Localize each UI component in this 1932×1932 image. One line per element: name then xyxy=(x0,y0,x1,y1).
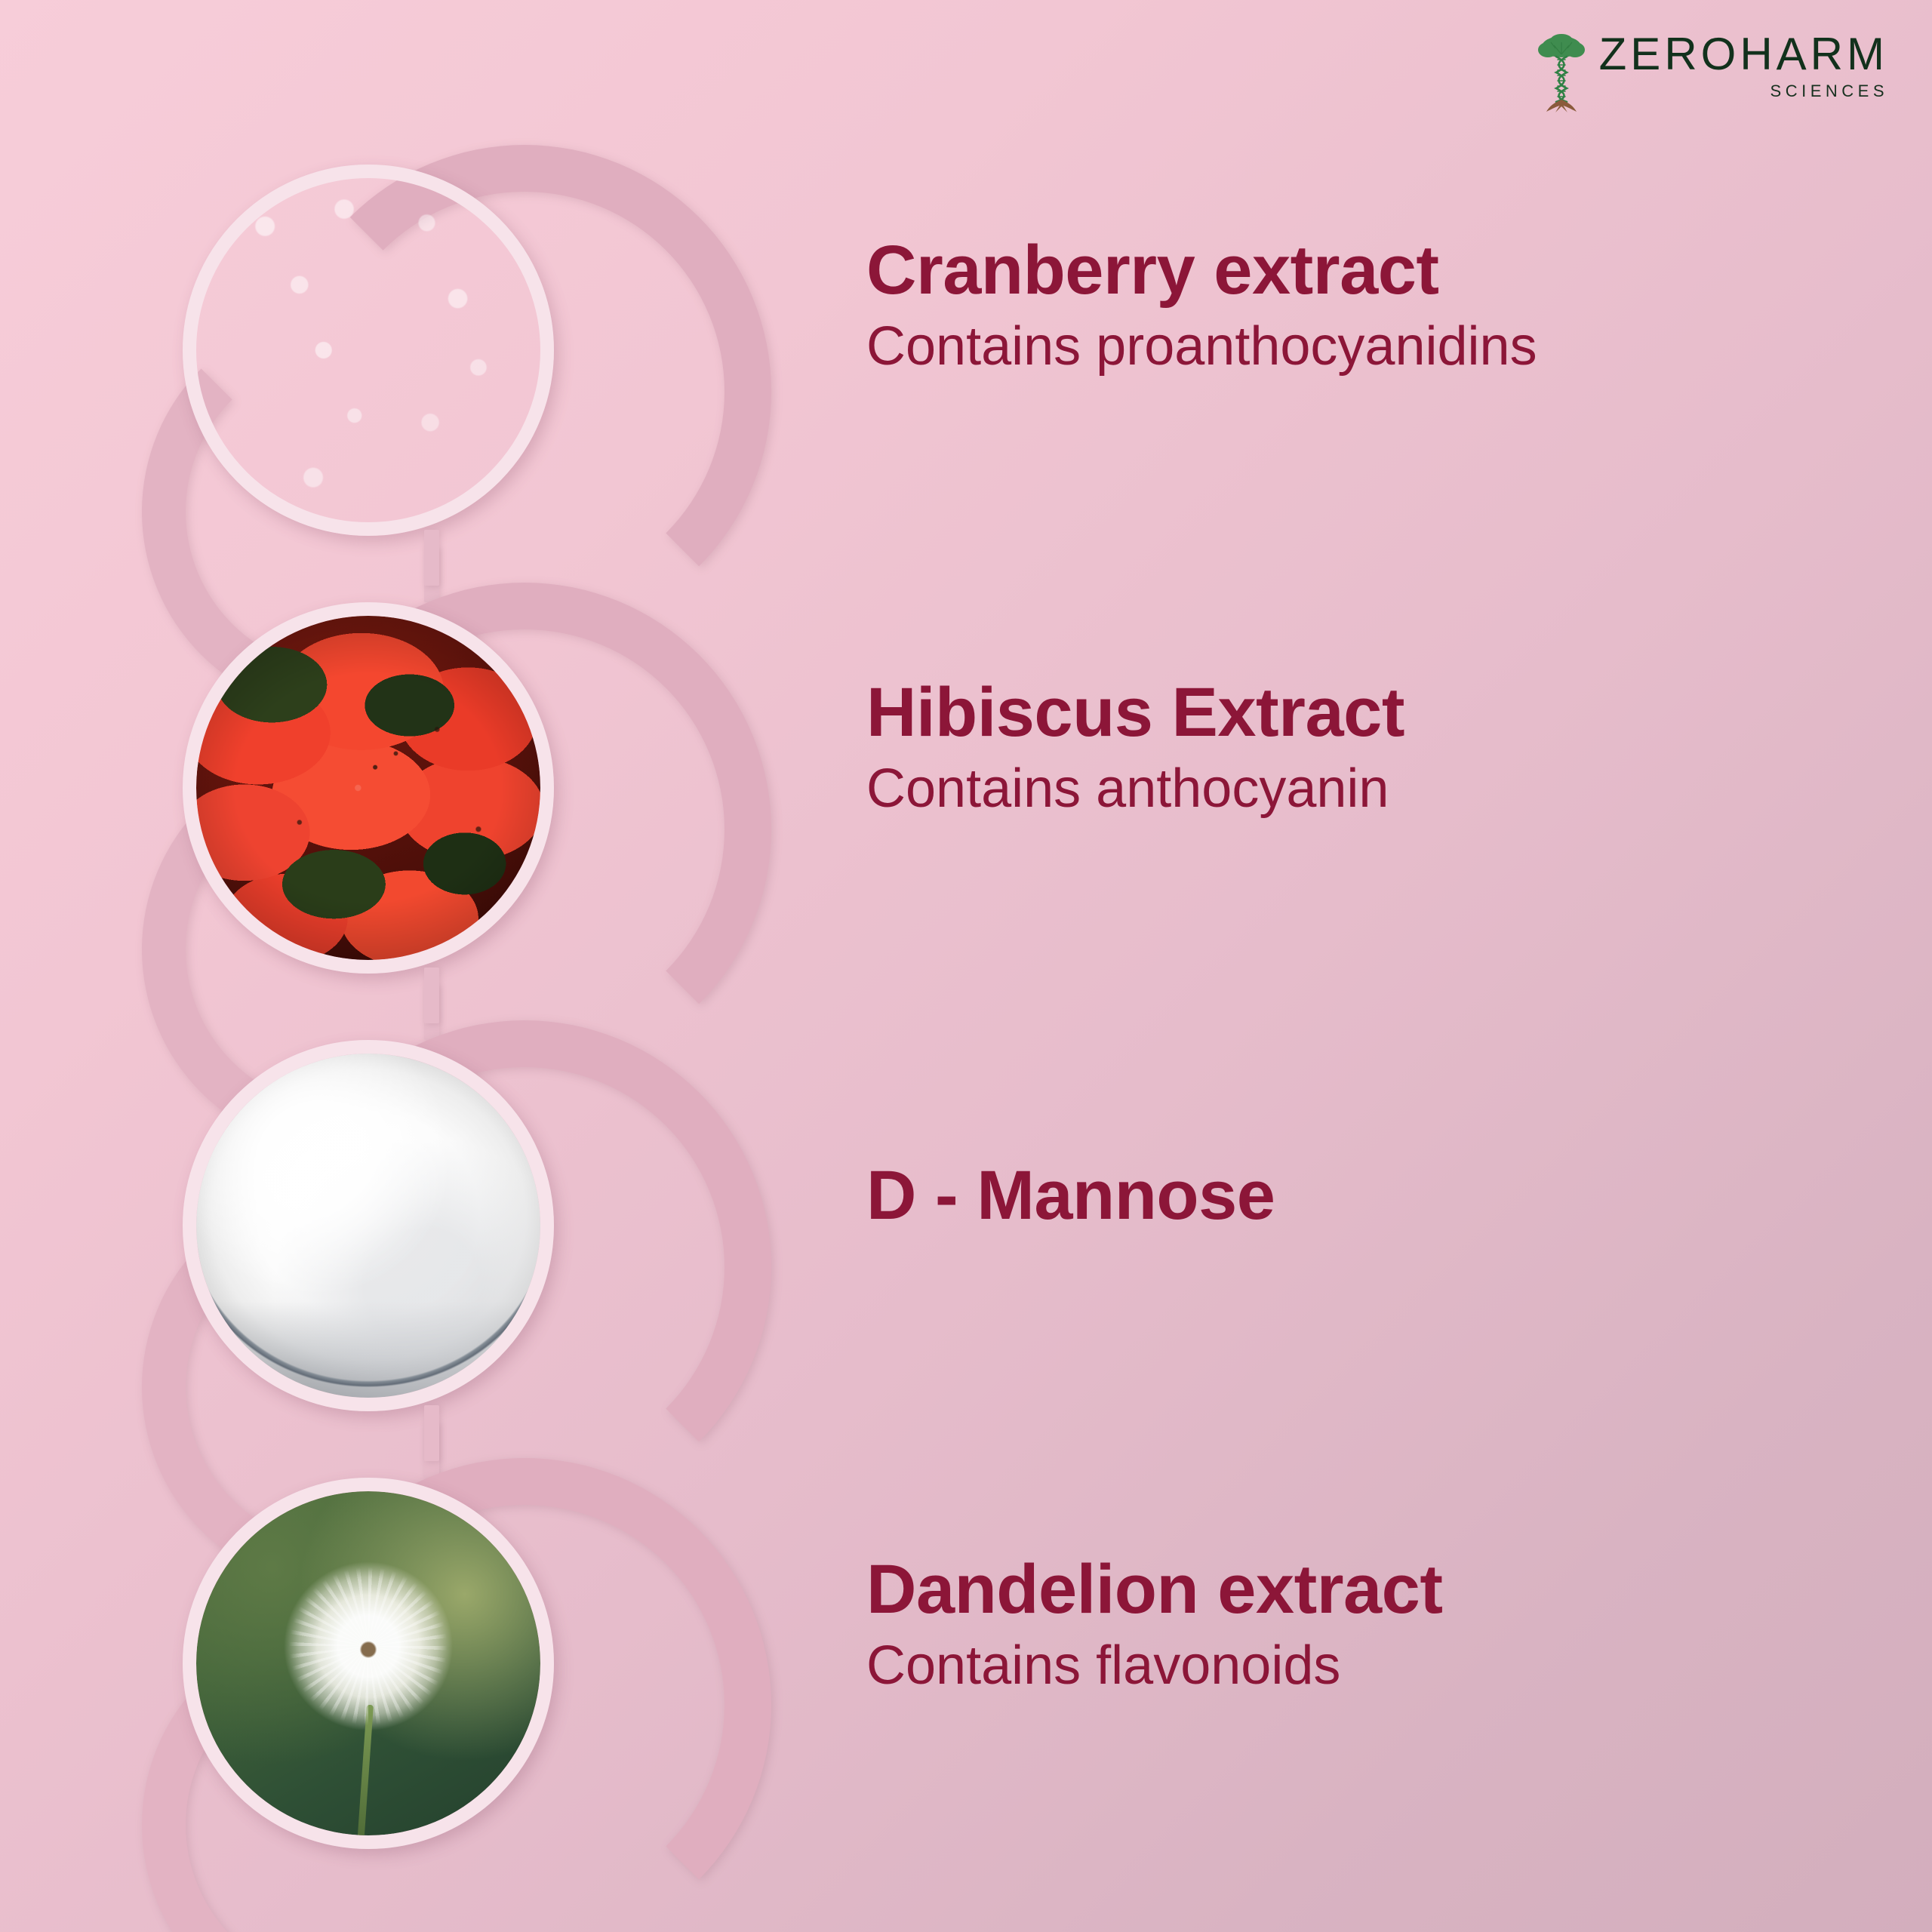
dandelion-stem xyxy=(357,1704,374,1835)
ingredient-text: Hibiscus Extract Contains anthocyanin xyxy=(866,678,1870,817)
ingredient-artwork xyxy=(113,1434,747,1887)
connector-line xyxy=(424,1405,439,1461)
white-powder-dish-photo xyxy=(196,1054,540,1398)
dandelion-seedhead-photo xyxy=(196,1491,540,1835)
brand-wordmark: ZEROHARM SCIENCES xyxy=(1599,32,1888,100)
ingredient-artwork xyxy=(113,996,747,1449)
ingredient-title: Dandelion extract xyxy=(866,1555,1870,1626)
ingredient-text: Cranberry extract Contains proanthocyani… xyxy=(866,235,1870,375)
ingredient-text: Dandelion extract Contains flavonoids xyxy=(866,1555,1870,1694)
hibiscus-flowers-photo xyxy=(196,616,540,960)
ingredient-text: D - Mannose xyxy=(866,1161,1870,1244)
connector-line xyxy=(424,530,439,586)
ingredient-row-cranberry: Cranberry extract Contains proanthocyani… xyxy=(0,121,1932,574)
ingredient-subtitle: Contains proanthocyanidins xyxy=(866,318,1870,376)
ingredient-image-cranberry xyxy=(183,165,554,536)
ingredient-infographic: ZEROHARM SCIENCES Cranberry extract Cont… xyxy=(0,0,1932,1932)
cranberries-photo xyxy=(196,178,540,522)
ingredient-artwork xyxy=(113,121,747,574)
ingredient-artwork xyxy=(113,558,747,1011)
ingredient-row-dandelion: Dandelion extract Contains flavonoids xyxy=(0,1434,1932,1887)
brand-subtitle: SCIENCES xyxy=(1770,83,1888,100)
ingredient-row-d-mannose: D - Mannose xyxy=(0,996,1932,1449)
ingredient-image-hibiscus xyxy=(183,602,554,974)
ingredient-subtitle: Contains anthocyanin xyxy=(866,761,1870,818)
ingredient-image-d-mannose xyxy=(183,1040,554,1411)
brand-logo: ZEROHARM SCIENCES xyxy=(1534,32,1888,113)
ingredient-row-hibiscus: Hibiscus Extract Contains anthocyanin xyxy=(0,558,1932,1011)
ingredient-title: D - Mannose xyxy=(866,1161,1870,1232)
ingredient-image-dandelion xyxy=(183,1478,554,1849)
tree-dna-logo-icon xyxy=(1534,32,1589,113)
ingredient-subtitle: Contains flavonoids xyxy=(866,1638,1870,1695)
connector-line xyxy=(424,968,439,1023)
ingredient-title: Cranberry extract xyxy=(866,235,1870,306)
ingredient-title: Hibiscus Extract xyxy=(866,678,1870,749)
brand-name: ZEROHARM xyxy=(1599,32,1888,77)
